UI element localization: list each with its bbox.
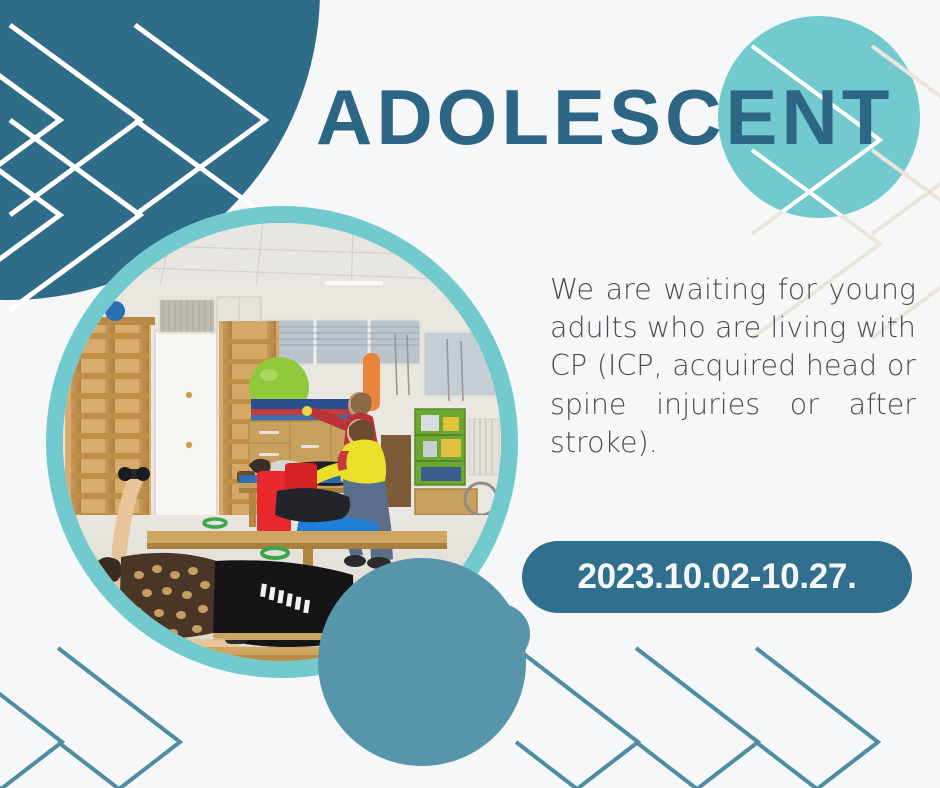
poster-canvas: ADOLESCENT We are waiting for young adul… <box>0 0 940 788</box>
date-badge: 2023.10.02-10.27. <box>522 541 912 613</box>
page-title: ADOLESCENT <box>316 78 893 156</box>
body-text: We are waiting for young adults who are … <box>550 271 916 462</box>
decor-circle-solid <box>318 558 526 766</box>
date-badge-label: 2023.10.02-10.27. <box>577 557 856 597</box>
